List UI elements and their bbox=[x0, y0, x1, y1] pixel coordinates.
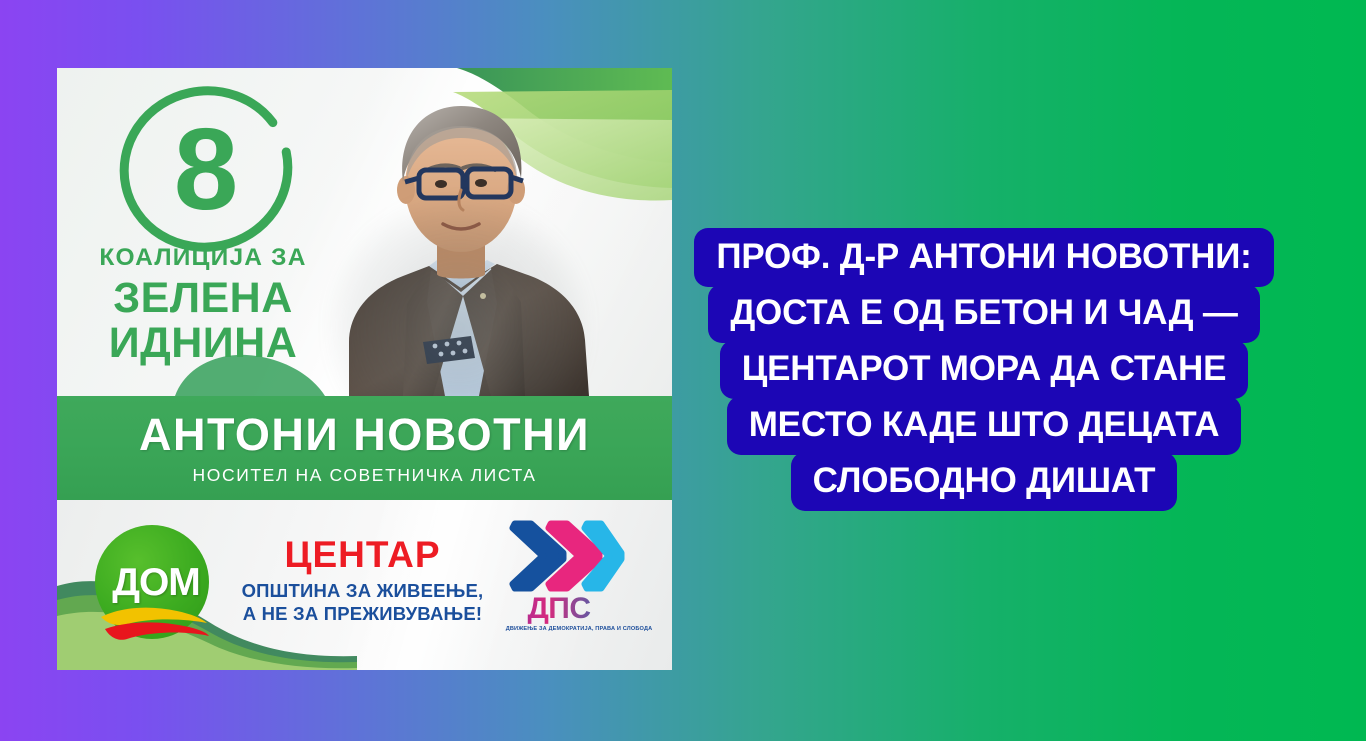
slogan-line-2: А НЕ ЗА ПРЕЖИВУВАЊЕ! bbox=[225, 603, 500, 626]
dom-swoosh-red bbox=[105, 622, 209, 639]
headline-line: ДОСТА Е ОД БЕТОН И ЧАД — bbox=[708, 284, 1259, 343]
campaign-poster: 8 КОАЛИЦИЈА ЗА ЗЕЛЕНА ИДНИНА bbox=[57, 68, 672, 670]
dps-party-logo: ДПС ДВИЖЕЊЕ ЗА ДЕМОКРАТИЈА, ПРАВА И СЛОБ… bbox=[505, 520, 655, 655]
municipality-name: ЦЕНТАР bbox=[225, 536, 500, 573]
portrait-shadow bbox=[325, 194, 593, 396]
coalition-number-wrap: 8 bbox=[91, 84, 321, 254]
dps-logo-text: ДПС bbox=[505, 594, 613, 624]
headline-line: ЦЕНТАРОТ МОРА ДА СТАНЕ bbox=[720, 340, 1249, 399]
coalition-line-1: КОАЛИЦИЈА ЗА bbox=[79, 246, 327, 271]
dom-party-logo: ДОМ bbox=[91, 525, 213, 647]
page-canvas: 8 КОАЛИЦИЈА ЗА ЗЕЛЕНА ИДНИНА bbox=[0, 0, 1366, 741]
candidate-name: АНТОНИ НОВОТНИ bbox=[139, 412, 590, 457]
municipality-slogan-block: ЦЕНТАР ОПШТИНА ЗА ЖИВЕЕЊЕ, А НЕ ЗА ПРЕЖИ… bbox=[225, 536, 500, 625]
headline-line: МЕСТО КАДЕ ШТО ДЕЦАТА bbox=[727, 396, 1242, 455]
poster-footer: ДОМ ЦЕНТАР ОПШТИНА ЗА ЖИВЕЕЊЕ, А НЕ ЗА П… bbox=[57, 500, 672, 670]
portrait-eye-right bbox=[475, 179, 487, 187]
dps-tagline: ДВИЖЕЊЕ ЗА ДЕМОКРАТИЈА, ПРАВА И СЛОБОДА bbox=[503, 626, 655, 632]
coalition-line-3: ИДНИНА bbox=[79, 321, 327, 367]
headline-line: ПРОФ. Д-Р АНТОНИ НОВОТНИ: bbox=[694, 228, 1273, 287]
candidate-role: НОСИТЕЛ НА СОВЕТНИЧКА ЛИСТА bbox=[193, 467, 537, 485]
candidate-portrait bbox=[311, 74, 611, 396]
coalition-wordmark: КОАЛИЦИЈА ЗА ЗЕЛЕНА ИДНИНА bbox=[79, 246, 327, 367]
slogan-line-1: ОПШТИНА ЗА ЖИВЕЕЊЕ, bbox=[225, 580, 500, 603]
headline-line: СЛОБОДНО ДИШАТ bbox=[791, 452, 1178, 511]
candidate-name-band: АНТОНИ НОВОТНИ НОСИТЕЛ НА СОВЕТНИЧКА ЛИС… bbox=[57, 396, 672, 500]
poster-top-section: 8 КОАЛИЦИЈА ЗА ЗЕЛЕНА ИДНИНА bbox=[57, 68, 672, 396]
coalition-line-2: ЗЕЛЕНА bbox=[79, 276, 327, 322]
dps-chevrons bbox=[505, 520, 625, 592]
dom-logo-text: ДОМ bbox=[91, 563, 221, 602]
portrait-eye-left bbox=[435, 180, 447, 188]
article-headline: ПРОФ. Д-Р АНТОНИ НОВОТНИ: ДОСТА Е ОД БЕТ… bbox=[660, 228, 1308, 508]
coalition-number: 8 bbox=[174, 111, 239, 227]
